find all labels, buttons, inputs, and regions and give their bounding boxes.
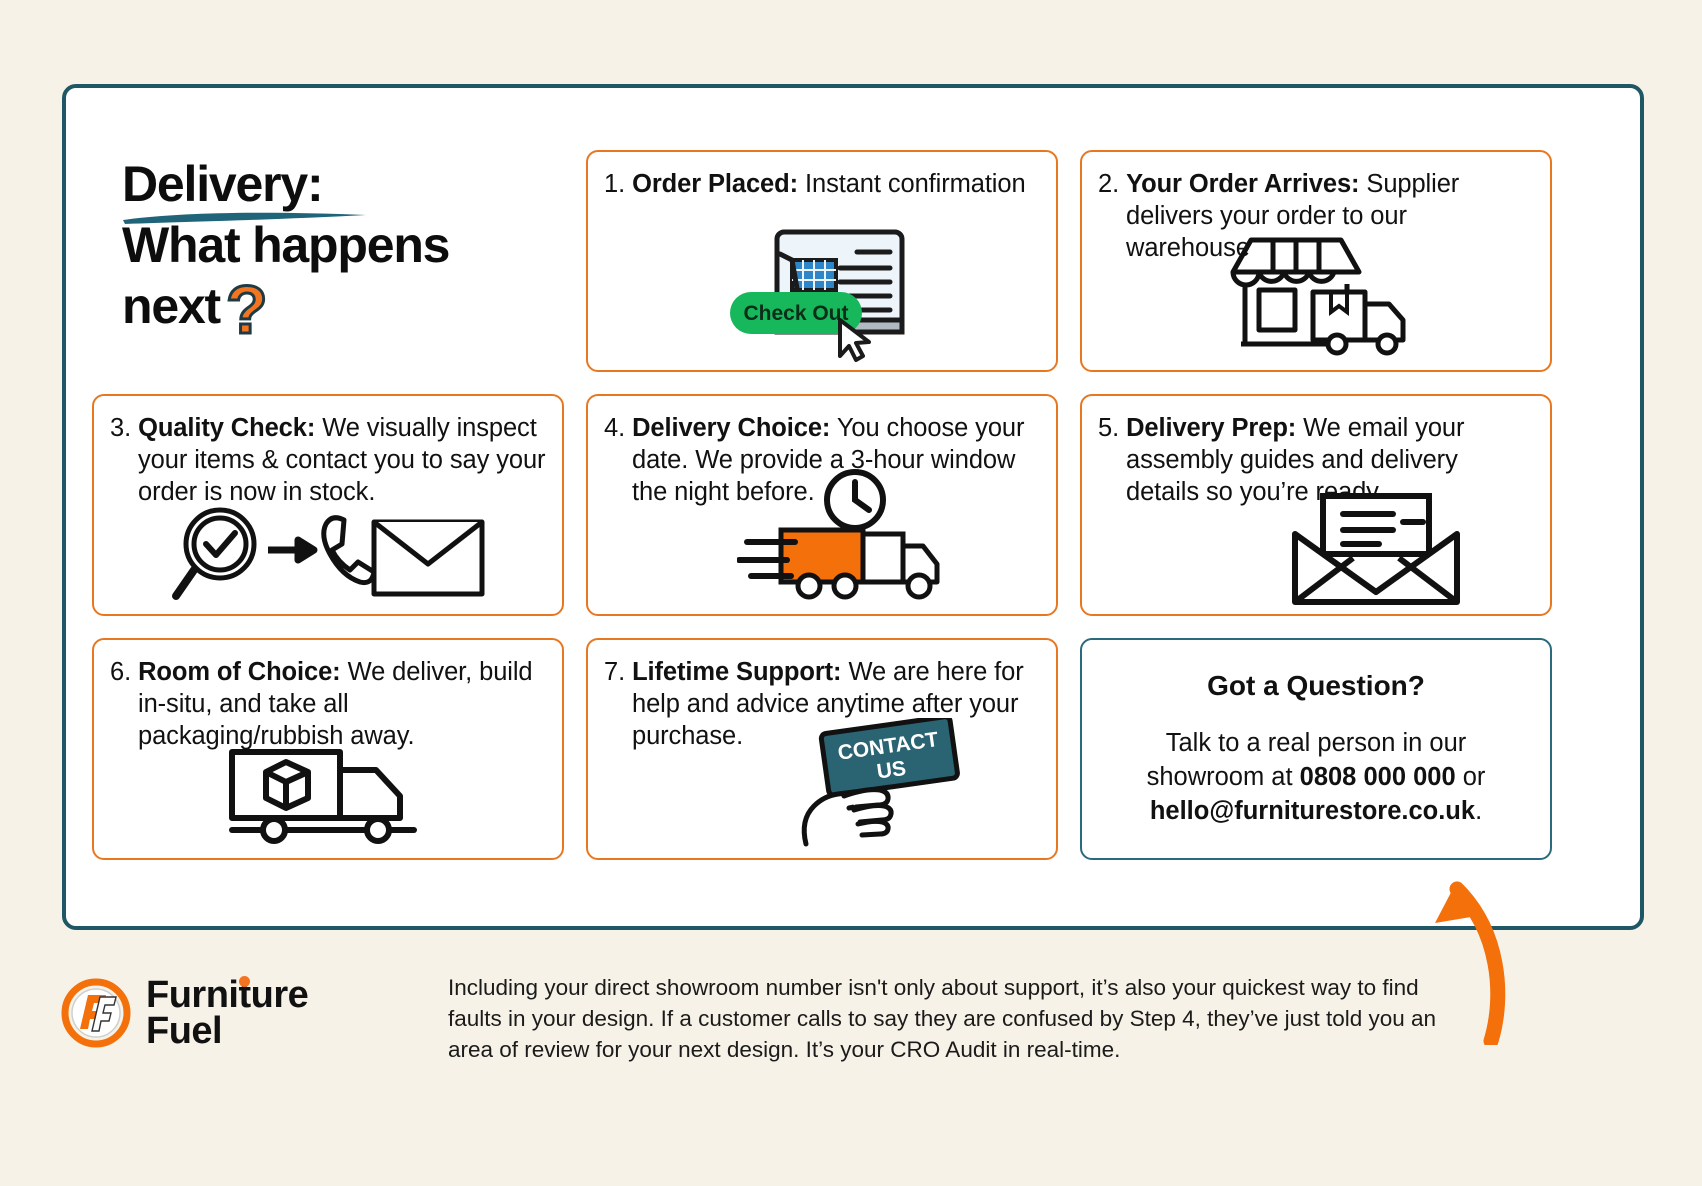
step-3-text: 3. Quality Check: We visually inspect yo… (110, 412, 548, 508)
step-2-lead: Your Order Arrives: (1126, 170, 1359, 198)
step-6-lead: Room of Choice: (138, 658, 341, 686)
step-1-text: 1. Order Placed: Instant confirmation (604, 168, 1042, 200)
checkout-screen-icon: Check Out (722, 224, 922, 364)
footnote-text: Including your direct showroom number is… (448, 973, 1448, 1065)
step-3-lead: Quality Check: (138, 414, 315, 442)
step-card-6[interactable]: 6. Room of Choice: We deliver, build in-… (92, 638, 564, 860)
step-card-5[interactable]: 5. Delivery Prep: We email your assembly… (1080, 394, 1552, 616)
step-card-4[interactable]: 4. Delivery Choice: You choose your date… (586, 394, 1058, 616)
contact-body-end: . (1475, 797, 1482, 825)
step-1-rest: Instant confirmation (798, 170, 1026, 198)
open-envelope-letter-icon (1281, 492, 1471, 608)
brand-line-1: Furniture (146, 977, 308, 1013)
step-7-text: 7. Lifetime Support: We are here for hel… (604, 656, 1042, 752)
step-7-number: 7. (604, 658, 625, 686)
steps-grid: 1. Order Placed: Instant confirmation (92, 150, 1622, 910)
contact-phone[interactable]: 0808 000 000 (1300, 763, 1456, 791)
step-card-3[interactable]: 3. Quality Check: We visually inspect yo… (92, 394, 564, 616)
step-cell-1: 1. Order Placed: Instant confirmation (586, 150, 1058, 372)
contact-title: Got a Question? (1207, 670, 1425, 702)
contact-inner: Got a Question? Talk to a real person in… (1082, 640, 1550, 858)
step-4-lead: Delivery Choice: (632, 414, 830, 442)
step-2-text: 2. Your Order Arrives: Supplier delivers… (1098, 168, 1536, 264)
contact-email[interactable]: hello@furniturestore.co.uk (1150, 797, 1475, 825)
delivery-truck-box-icon (218, 742, 438, 846)
step-1-icon-area: Check Out (588, 224, 1056, 364)
checkout-button-label: Check Out (743, 302, 848, 325)
step-2-number: 2. (1098, 170, 1119, 198)
step-5-text: 5. Delivery Prep: We email your assembly… (1098, 412, 1536, 508)
contact-body: Talk to a real person in our showroom at… (1108, 726, 1524, 828)
step-1-number: 1. (604, 170, 625, 198)
brand-dot-icon (239, 976, 250, 987)
step-cell-5: 5. Delivery Prep: We email your assembly… (1080, 394, 1552, 616)
step-card-7[interactable]: 7. Lifetime Support: We are here for hel… (586, 638, 1058, 860)
step-3-number: 3. (110, 414, 131, 442)
step-cell-3: 3. Quality Check: We visually inspect yo… (92, 394, 564, 616)
step-cell-2: 2. Your Order Arrives: Supplier delivers… (1080, 150, 1552, 372)
inspect-then-contact-icon (168, 502, 488, 612)
step-5-icon-area (1082, 492, 1550, 608)
step-5-number: 5. (1098, 414, 1119, 442)
step-card-2[interactable]: 2. Your Order Arrives: Supplier delivers… (1080, 150, 1552, 372)
brand-logo-text: Furniture Fuel (146, 977, 308, 1049)
step-7-lead: Lifetime Support: (632, 658, 841, 686)
furniture-fuel-monogram-icon (60, 977, 132, 1049)
contact-sign-line-2: US (875, 757, 907, 784)
step-6-text: 6. Room of Choice: We deliver, build in-… (110, 656, 548, 752)
step-cell-7: 7. Lifetime Support: We are here for hel… (586, 638, 1058, 860)
step-6-number: 6. (110, 658, 131, 686)
step-4-text: 4. Delivery Choice: You choose your date… (604, 412, 1042, 508)
brand-logo: Furniture Fuel (60, 977, 308, 1049)
main-panel: Delivery: What happens next ? 1. (62, 84, 1644, 930)
brand-line-2: Fuel (146, 1013, 308, 1049)
title-cell (92, 150, 564, 372)
infographic-page: Delivery: What happens next ? 1. (0, 0, 1702, 1186)
step-5-lead: Delivery Prep: (1126, 414, 1296, 442)
step-3-icon-area (94, 502, 562, 612)
step-6-icon-area (94, 742, 562, 846)
step-cell-6: 6. Room of Choice: We deliver, build in-… (92, 638, 564, 860)
step-1-lead: Order Placed: (632, 170, 798, 198)
step-4-number: 4. (604, 414, 625, 442)
contact-cell: Got a Question? Talk to a real person in… (1080, 638, 1552, 860)
contact-card[interactable]: Got a Question? Talk to a real person in… (1080, 638, 1552, 860)
step-card-1[interactable]: 1. Order Placed: Instant confirmation (586, 150, 1058, 372)
contact-body-mid: or (1456, 763, 1486, 791)
step-cell-4: 4. Delivery Choice: You choose your date… (586, 394, 1058, 616)
